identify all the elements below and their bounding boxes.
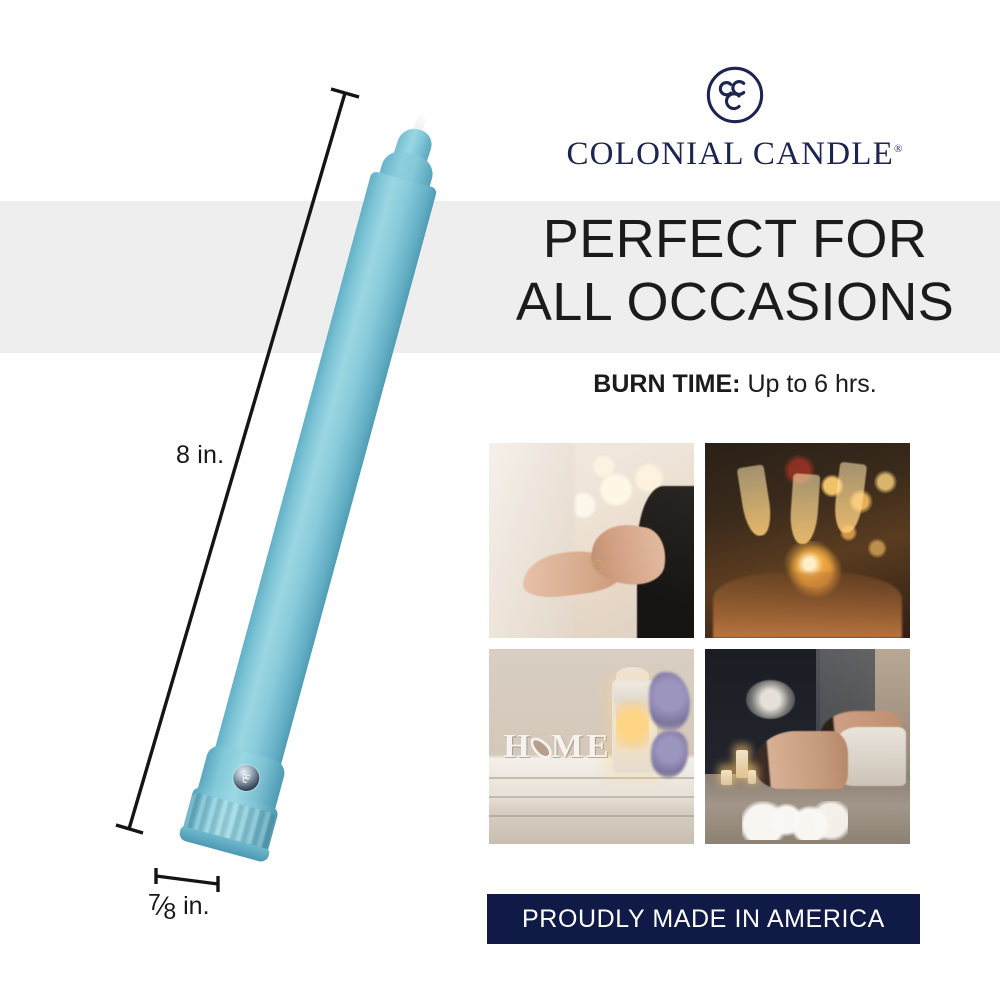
champagne-flute (789, 473, 820, 545)
orchid-arrangement (746, 680, 795, 719)
photo-sparkler-toast (705, 443, 910, 638)
brand-wordmark-text: COLONIAL CANDLE (566, 136, 894, 172)
photo-sparkler-toast-image (705, 443, 910, 638)
photo-spa-couple-image (705, 649, 910, 844)
headline-line-1: PERFECT FOR (470, 208, 1000, 271)
burn-time: BURN TIME: Up to 6 hrs. (470, 370, 1000, 399)
candle-body (204, 171, 437, 806)
headline: PERFECT FOR ALL OCCASIONS (470, 208, 1000, 333)
length-dimension-label: 8 in. (176, 441, 224, 470)
fraction-seven-eighths: 7⁄8 (148, 893, 178, 920)
brand-wordmark: COLONIAL CANDLE® (470, 136, 1000, 173)
photo-home-lantern-image: H M E (489, 649, 694, 844)
made-in-america-banner: PROUDLY MADE IN AMERICA (487, 894, 920, 944)
spa-guest-front (754, 731, 848, 790)
candle-panel: 8 in. 7⁄8 in. (0, 0, 470, 1000)
candle-illustration (157, 100, 480, 894)
lifestyle-photo-grid: H M E (489, 443, 916, 844)
lavender-sprig (649, 672, 690, 731)
bride-dress (489, 443, 575, 638)
lantern-glow (616, 700, 649, 751)
headline-line-2: ALL OCCASIONS (470, 271, 1000, 334)
orchid-blooms (742, 801, 849, 840)
photo-wedding-ring-image (489, 443, 694, 638)
product-infographic: 8 in. 7⁄8 in. COLONIAL CAN (0, 0, 1000, 1000)
champagne-flute (832, 461, 867, 534)
holding-hands (713, 572, 902, 638)
spa-candle (748, 770, 756, 784)
width-dimension-unit: in. (183, 892, 209, 921)
spa-candle (736, 750, 748, 777)
photo-spa-couple (705, 649, 910, 844)
photo-wedding-ring (489, 443, 694, 638)
shelf-plank-line (489, 796, 694, 798)
registered-trademark-icon: ® (894, 143, 904, 155)
spa-candle (721, 770, 731, 786)
champagne-flute (737, 465, 774, 538)
fraction-numerator: 7 (148, 891, 161, 914)
home-letter-e: E (586, 730, 610, 764)
home-letter-h: H (503, 730, 530, 764)
colonial-candle-monogram-icon (704, 64, 766, 126)
home-word-decor: H M E (503, 723, 610, 764)
fraction-denominator: 8 (163, 900, 176, 923)
shelf-plank-line (489, 815, 694, 817)
burn-time-label: BURN TIME: (593, 370, 740, 398)
photo-home-lantern: H M E (489, 649, 694, 844)
width-dimension-label: 7⁄8 in. (148, 892, 210, 921)
made-in-america-text: PROUDLY MADE IN AMERICA (522, 905, 885, 934)
brand-block: COLONIAL CANDLE® (470, 64, 1000, 173)
burn-time-value: Up to 6 hrs. (747, 370, 876, 398)
wedding-ring-icon (592, 560, 604, 572)
home-letter-m: M (551, 730, 584, 764)
